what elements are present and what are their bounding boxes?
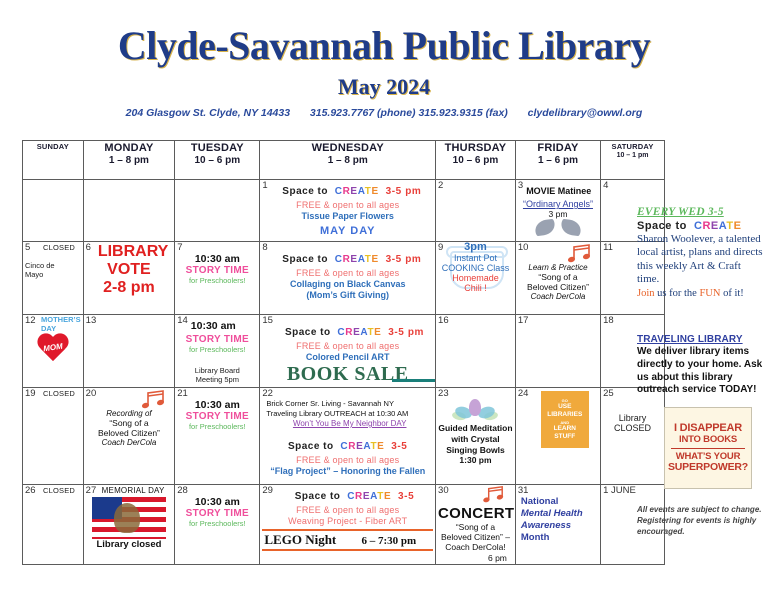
story-time-time: 10:30 am <box>177 399 257 411</box>
superpower-poster: I DISAPPEAR INTO BOOKS WHAT’S YOUR SUPER… <box>664 407 752 489</box>
dow-tuesday: TUESDAY 10 – 6 pm <box>175 141 260 180</box>
day-number: 19 <box>25 389 36 399</box>
story-time-label: STORY TIME <box>177 508 257 519</box>
song-line2: “Song of a <box>518 272 598 282</box>
space-to-label: Space to <box>637 220 687 232</box>
contact-line: 204 Glasgow St. Clyde, NY 14433 315.923.… <box>0 107 768 119</box>
story-time-label: STORY TIME <box>177 411 257 422</box>
cinco-note: Cinco deMayo <box>25 261 81 279</box>
space-to-label: Space to <box>285 327 331 338</box>
song-line3: Beloved Citizen” <box>86 428 173 438</box>
activity-sub-label: (Mom’s Gift Giving) <box>262 290 433 300</box>
day-number: 23 <box>438 389 449 399</box>
meditation-time: 1:30 pm <box>438 455 513 466</box>
masthead: Clyde-Savannah Public Library May 2024 2… <box>0 0 768 119</box>
library-closed-line2: CLOSED <box>603 423 662 433</box>
closed-label: CLOSED <box>25 243 81 252</box>
day-cell-empty <box>23 180 84 242</box>
lego-night-banner: LEGO Night 6 – 7:30 pm <box>262 529 433 551</box>
song-coach: Coach DerCola <box>518 292 598 301</box>
dow-thursday: THURSDAY 10 – 6 pm <box>436 141 516 180</box>
day-number: 6 <box>86 243 91 253</box>
song-line2: “Song of a <box>86 418 173 428</box>
day-cell-21[interactable]: 21 10:30 am STORY TIME for Preschoolers! <box>175 388 260 485</box>
cooking-line3: Homemade <box>438 273 513 283</box>
day-cell-16[interactable]: 16 <box>436 315 516 388</box>
day-cell-15[interactable]: 15 Space to CREATE 3-5 pm FREE & open to… <box>260 315 436 388</box>
day-number: 2 <box>438 181 443 191</box>
free-note: FREE & open to all ages <box>262 455 433 465</box>
day-number: 30 <box>438 486 449 496</box>
movie-title-label: MOVIE Matinee <box>526 186 591 196</box>
movie-name: “Ordinary Angels” <box>518 199 598 209</box>
every-wed-heading: EVERY WED 3-5 <box>637 206 765 218</box>
day-number: 24 <box>518 389 529 399</box>
mhm-line2: Mental Health <box>521 508 598 520</box>
day-cell-26[interactable]: 26 CLOSED <box>23 485 84 565</box>
free-note: FREE & open to all ages <box>262 268 433 278</box>
day-cell-27[interactable]: 27 MEMORIAL DAY Happy Memorial Day Libra… <box>83 485 175 565</box>
story-time-sub: for Preschoolers! <box>177 519 257 528</box>
day-number: 7 <box>177 243 182 253</box>
day-cell-14[interactable]: 14 10:30 am STORY TIME for Preschoolers!… <box>175 315 260 388</box>
library-vote-time: 2-8 pm <box>86 279 173 297</box>
story-time-sub: for Preschoolers! <box>177 276 257 285</box>
day-cell-6[interactable]: 6 LIBRARY VOTE 2-8 pm <box>83 242 175 315</box>
calendar-week-5: 26 CLOSED 27 MEMORIAL DAY Happy Memorial… <box>23 485 665 565</box>
day-cell-17[interactable]: 17 <box>515 315 600 388</box>
traveling-library-heading: TRAVELING LIBRARY <box>637 334 765 345</box>
meditation-line2: with Crystal <box>438 434 513 445</box>
day-cell-8[interactable]: 8 Space to CREATE 3-5 pm FREE & open to … <box>260 242 436 315</box>
day-cell-9[interactable]: 9 3pm Instant Pot COOKING Class Homemade… <box>436 242 516 315</box>
day-number: 20 <box>86 389 97 399</box>
day-number: 21 <box>177 389 188 399</box>
dow-saturday: SATURDAY 10 – 1 pm <box>601 141 665 180</box>
activity-label: “Flag Project” – Honoring the Fallen <box>262 466 433 476</box>
story-time-time: 10:30 am <box>177 253 257 265</box>
music-notes-icon <box>140 389 170 409</box>
board-meeting-line1: Library Board <box>177 366 257 375</box>
create-time: 3-5 pm <box>386 186 422 197</box>
day-cell-24[interactable]: 24 GO USE LIBRARIES AND LEARN STUFF <box>515 388 600 485</box>
calendar-week-2: 5 CLOSED Cinco deMayo 6 LIBRARY VOTE 2-8… <box>23 242 665 315</box>
board-meeting-line2: Meeting 5pm <box>177 375 257 384</box>
day-cell-7[interactable]: 7 10:30 am STORY TIME for Preschoolers! <box>175 242 260 315</box>
lotus-icon <box>452 399 498 421</box>
dow-wednesday-label: WEDNESDAY <box>262 142 433 154</box>
poster-line2: USE <box>558 403 571 411</box>
day-number: 12 <box>25 316 36 326</box>
heart-icon: MOM <box>36 334 70 364</box>
outreach-line2: Traveling Library OUTREACH at 10:30 AM <box>266 409 433 419</box>
library-vote-line1: LIBRARY <box>86 243 173 261</box>
free-note: FREE & open to all ages <box>262 200 433 210</box>
day-cell-5[interactable]: 5 CLOSED Cinco deMayo <box>23 242 84 315</box>
phone-text: 315.923.7767 (phone) 315.923.9315 (fax) <box>310 107 508 119</box>
activity-label: Weaving Project - Fiber ART <box>262 516 433 526</box>
library-closed-line1: Library <box>603 413 662 423</box>
calendar-week-3: 12 MOTHER’S DAY MOM 13 14 10:30 am <box>23 315 665 388</box>
day-number: 31 <box>518 486 529 496</box>
every-wed-block: EVERY WED 3-5 Space to CREATE Sharon Woo… <box>637 206 765 299</box>
dow-monday-label: MONDAY <box>86 142 173 154</box>
space-to-label: Space to <box>295 491 341 502</box>
calendar-page: Clyde-Savannah Public Library May 2024 2… <box>0 0 768 593</box>
day-number: 5 <box>25 243 30 253</box>
song-line3: Beloved Citizen” <box>518 282 598 292</box>
day-cell-30[interactable]: 30 CONCERT “Song of a <box>436 485 516 565</box>
music-notes-icon <box>481 485 511 505</box>
day-cell-28[interactable]: 28 10:30 am STORY TIME for Preschoolers! <box>175 485 260 565</box>
poster-line2: INTO BOOKS <box>679 435 737 445</box>
day-number: 29 <box>262 486 273 496</box>
poster-line5: LEARN <box>554 425 576 433</box>
join-word: Join <box>637 288 655 299</box>
mhm-line1: National <box>521 496 598 508</box>
music-notes-icon <box>566 243 596 263</box>
address-text: 204 Glasgow St. Clyde, NY 14433 <box>126 107 290 119</box>
every-wed-join-line: Join us for the FUN of it! <box>637 288 765 299</box>
spacer <box>293 107 307 119</box>
calendar-table: SUNDAY MONDAY 1 – 8 pm TUESDAY 10 – 6 pm… <box>22 140 665 565</box>
concert-line3: Coach DerCola! <box>438 542 513 552</box>
story-time-time: 10:30 am <box>177 496 257 508</box>
book-sale-label: BOOK SALE <box>262 363 433 386</box>
day-number: 15 <box>262 316 273 326</box>
american-flag-image: Happy Memorial Day <box>92 497 166 539</box>
day-cell-2[interactable]: 2 <box>436 180 516 242</box>
book-sale-arrow-line <box>392 379 435 382</box>
disclaimer-text: All events are subject to change. Regist… <box>637 505 765 537</box>
movie-time: 3 pm <box>518 209 598 219</box>
day-number: 3 <box>518 181 523 191</box>
create-time: 3-5 pm <box>388 327 424 338</box>
free-note: FREE & open to all ages <box>262 505 433 515</box>
activity-label: Tissue Paper Flowers <box>262 211 433 221</box>
traveling-library-block: TRAVELING LIBRARY We deliver library ite… <box>637 334 765 397</box>
song-line1: Recording of <box>86 409 173 418</box>
dow-wednesday: WEDNESDAY 1 – 8 pm <box>260 141 436 180</box>
neighbor-day-label: Won’t You Be My Neighbor DAY <box>266 419 433 429</box>
dow-monday: MONDAY 1 – 8 pm <box>83 141 175 180</box>
lego-night-time: 6 – 7:30 pm <box>362 535 417 547</box>
create-time: 3-5 <box>398 491 414 502</box>
space-to-label: Space to <box>282 186 328 197</box>
email-link[interactable]: clydelibrary@owwl.org <box>528 107 643 119</box>
calendar-week-1: 1 Space to CREATE 3-5 pm FREE & open to … <box>23 180 665 242</box>
dow-tuesday-hours: 10 – 6 pm <box>177 155 257 166</box>
create-time: 3-5 <box>391 441 407 452</box>
day-number: 22 <box>262 389 273 399</box>
concert-line2: Beloved Citizen” – <box>438 532 513 542</box>
day-cell-12[interactable]: 12 MOTHER’S DAY MOM <box>23 315 84 388</box>
dow-sunday-label: SUNDAY <box>25 142 81 151</box>
day-number: 8 <box>262 243 267 253</box>
lego-night-label: LEGO Night <box>264 532 336 547</box>
concert-time: 6 pm <box>438 553 513 563</box>
day-cell-20[interactable]: 20 Recording of “Song o <box>83 388 175 485</box>
calendar-month: May 2024 <box>0 74 768 100</box>
day-cell-13[interactable]: 13 <box>83 315 175 388</box>
day-number: 10 <box>518 243 529 253</box>
dow-wednesday-hours: 1 – 8 pm <box>262 155 433 166</box>
every-wed-body: Sharon Woolever, a talented local artist… <box>637 233 765 287</box>
poster-line6: STUFF <box>554 433 575 441</box>
create-time: 3-5 pm <box>386 254 422 265</box>
disclaimer-block: All events are subject to change. Regist… <box>637 505 765 537</box>
story-time-time: 10:30 am <box>191 320 236 332</box>
story-time-label: STORY TIME <box>177 334 257 345</box>
poster-line1: I DISAPPEAR <box>674 423 742 435</box>
day-cell-31[interactable]: 31 National Mental Health Awareness Mont… <box>515 485 600 565</box>
flag-caption: Happy Memorial Day <box>100 532 137 537</box>
day-number: 28 <box>177 486 188 496</box>
meditation-line3: Singing Bowls <box>438 445 513 456</box>
day-cell-25[interactable]: 25 Library CLOSED <box>601 388 665 485</box>
story-time-sub: for Preschoolers! <box>177 422 257 431</box>
dow-monday-hours: 1 – 8 pm <box>86 155 173 166</box>
angel-wings-icon <box>535 220 581 236</box>
day-cell-10[interactable]: 10 Learn & Practice “So <box>515 242 600 315</box>
day-cell-19[interactable]: 19 CLOSED <box>23 388 84 485</box>
day-number: 1 JUNE <box>603 486 636 496</box>
traveling-library-body: We deliver library items directly to you… <box>637 346 765 397</box>
use-libraries-poster: GO USE LIBRARIES AND LEARN STUFF <box>541 391 589 448</box>
memorial-day-label: MEMORIAL DAY <box>86 486 173 495</box>
day-cell-29[interactable]: 29 Space to CREATE 3-5 FREE & open to al… <box>260 485 436 565</box>
meditation-line1: Guided Meditation <box>438 423 513 434</box>
song-coach: Coach DerCola <box>86 438 173 447</box>
day-number: 4 <box>603 181 608 191</box>
day-number: 27 <box>86 486 97 496</box>
mothers-day-line2: DAY <box>41 325 81 334</box>
free-note: FREE & open to all ages <box>262 341 433 351</box>
day-cell-1[interactable]: 1 Space to CREATE 3-5 pm FREE & open to … <box>260 180 436 242</box>
day-cell-22[interactable]: 22 Brick Corner Sr. Living - Savannah NY… <box>260 388 436 485</box>
day-of-week-header-row: SUNDAY MONDAY 1 – 8 pm TUESDAY 10 – 6 pm… <box>23 141 665 180</box>
day-cell-23[interactable]: 23 Guided Meditation with Crystal Singin… <box>436 388 516 485</box>
heart-text: MOM <box>35 341 70 355</box>
day-number: 13 <box>86 316 97 326</box>
library-vote-line2: VOTE <box>86 261 173 279</box>
poster-line4: SUPERPOWER? <box>668 462 748 473</box>
day-cell-3[interactable]: 3 MOVIE Matinee “Ordinary Angels” 3 pm <box>515 180 600 242</box>
day-number: 1 <box>262 181 267 191</box>
dow-thursday-hours: 10 – 6 pm <box>438 155 513 166</box>
dow-sunday: SUNDAY <box>23 141 84 180</box>
join-end: of it! <box>720 288 743 299</box>
song-line1: Learn & Practice <box>518 263 598 272</box>
day-number: 14 <box>177 316 188 326</box>
day-number: 16 <box>438 316 449 326</box>
cooking-time: 3pm <box>438 242 513 254</box>
calendar-week-4: 19 CLOSED 20 <box>23 388 665 485</box>
day-number: 25 <box>603 389 614 399</box>
dow-saturday-hours: 10 – 1 pm <box>603 152 662 159</box>
dow-friday-hours: 1 – 6 pm <box>518 155 598 166</box>
space-to-label: Space to <box>282 254 328 265</box>
day-cell-empty <box>83 180 175 242</box>
library-title: Clyde-Savannah Public Library <box>0 26 768 66</box>
activity-label: Collaging on Black Canvas <box>262 279 433 289</box>
concert-line1: “Song of a <box>438 522 513 532</box>
poster-line3: LIBRARIES <box>547 411 582 419</box>
fun-word: FUN <box>699 288 720 299</box>
story-time-label: STORY TIME <box>177 265 257 276</box>
join-mid: us for the <box>655 288 700 299</box>
dow-friday: FRIDAY 1 – 6 pm <box>515 141 600 180</box>
story-time-sub: for Preschoolers! <box>177 345 257 354</box>
dow-saturday-label: SATURDAY <box>603 142 662 151</box>
sidebar-space-to-create: Space to CREATE <box>637 220 765 232</box>
cooking-line1: Instant Pot <box>438 253 513 263</box>
dow-tuesday-label: TUESDAY <box>177 142 257 154</box>
day-number: 18 <box>603 316 614 326</box>
day-number: 17 <box>518 316 529 326</box>
activity-label: Colored Pencil ART <box>262 352 433 362</box>
mhm-line4: Month <box>521 532 598 544</box>
cooking-line4: Chili ! <box>438 283 513 293</box>
dow-thursday-label: THURSDAY <box>438 142 513 154</box>
library-closed-label: Library closed <box>86 539 173 550</box>
space-to-label: Space to <box>288 441 334 452</box>
may-day-banner: MAY DAY <box>262 225 433 237</box>
spacer <box>511 107 525 119</box>
outreach-line1: Brick Corner Sr. Living - Savannah NY <box>266 399 433 409</box>
day-number: 11 <box>603 243 613 253</box>
library-vote-block: LIBRARY VOTE 2-8 pm <box>86 243 173 297</box>
day-number: 26 <box>25 486 36 496</box>
dow-friday-label: FRIDAY <box>518 142 598 154</box>
day-cell-empty <box>175 180 260 242</box>
concert-label: CONCERT <box>438 505 513 522</box>
cooking-line2: COOKING Class <box>438 263 513 273</box>
mhm-line3: Awareness <box>521 520 598 532</box>
